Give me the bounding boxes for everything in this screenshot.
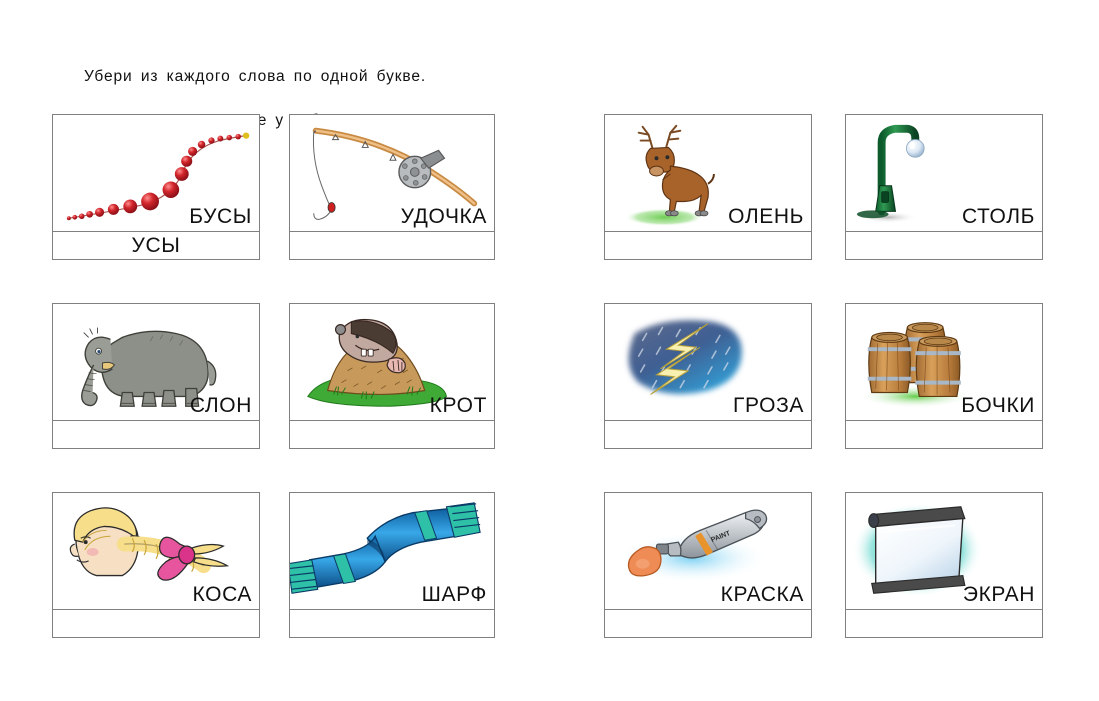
card-word: БУСЫ xyxy=(189,205,252,229)
card-grid: БУСЫ УСЫ xyxy=(0,0,1099,701)
card-scarf[interactable]: ШАРФ xyxy=(289,492,495,638)
card-word: СЛОН xyxy=(190,394,252,418)
card-word: УДОЧКА xyxy=(401,205,487,229)
answer-text: УСЫ xyxy=(53,234,259,258)
picture-box: БУСЫ xyxy=(52,114,260,232)
answer-box[interactable] xyxy=(604,232,812,260)
card-barrels[interactable]: БОЧКИ xyxy=(845,303,1043,449)
answer-box[interactable] xyxy=(289,421,495,449)
card-word: ЭКРАН xyxy=(963,583,1035,607)
card-beads[interactable]: БУСЫ УСЫ xyxy=(52,114,260,260)
card-braid-girl[interactable]: КОСА xyxy=(52,492,260,638)
answer-box[interactable] xyxy=(845,421,1043,449)
card-deer[interactable]: ОЛЕНЬ xyxy=(604,114,812,260)
answer-box[interactable] xyxy=(289,232,495,260)
picture-box: PAINT КРАСКА xyxy=(604,492,812,610)
picture-box: ШАРФ xyxy=(289,492,495,610)
picture-box: УДОЧКА xyxy=(289,114,495,232)
card-word: ШАРФ xyxy=(422,583,487,607)
answer-box[interactable] xyxy=(604,610,812,638)
picture-box: ОЛЕНЬ xyxy=(604,114,812,232)
answer-box[interactable] xyxy=(52,610,260,638)
card-screen[interactable]: ЭКРАН xyxy=(845,492,1043,638)
card-lamp-post[interactable]: СТОЛБ xyxy=(845,114,1043,260)
card-word: ОЛЕНЬ xyxy=(728,205,804,229)
picture-box: БОЧКИ xyxy=(845,303,1043,421)
picture-box: КРОТ xyxy=(289,303,495,421)
card-word: КОСА xyxy=(193,583,252,607)
card-word: КРОТ xyxy=(430,394,487,418)
picture-box: СТОЛБ xyxy=(845,114,1043,232)
card-elephant[interactable]: СЛОН xyxy=(52,303,260,449)
card-word: СТОЛБ xyxy=(962,205,1035,229)
picture-box: КОСА xyxy=(52,492,260,610)
card-word: ГРОЗА xyxy=(733,394,804,418)
card-word: БОЧКИ xyxy=(961,394,1035,418)
answer-box[interactable] xyxy=(289,610,495,638)
card-mole[interactable]: КРОТ xyxy=(289,303,495,449)
card-paint-tube[interactable]: PAINT КРАСКА xyxy=(604,492,812,638)
answer-box[interactable] xyxy=(52,421,260,449)
answer-box[interactable] xyxy=(845,610,1043,638)
card-word: КРАСКА xyxy=(721,583,804,607)
picture-box: ГРОЗА xyxy=(604,303,812,421)
answer-box[interactable]: УСЫ xyxy=(52,232,260,260)
answer-box[interactable] xyxy=(604,421,812,449)
answer-box[interactable] xyxy=(845,232,1043,260)
card-fishing-rod[interactable]: УДОЧКА xyxy=(289,114,495,260)
picture-box: СЛОН xyxy=(52,303,260,421)
card-thunderstorm[interactable]: ГРОЗА xyxy=(604,303,812,449)
picture-box: ЭКРАН xyxy=(845,492,1043,610)
